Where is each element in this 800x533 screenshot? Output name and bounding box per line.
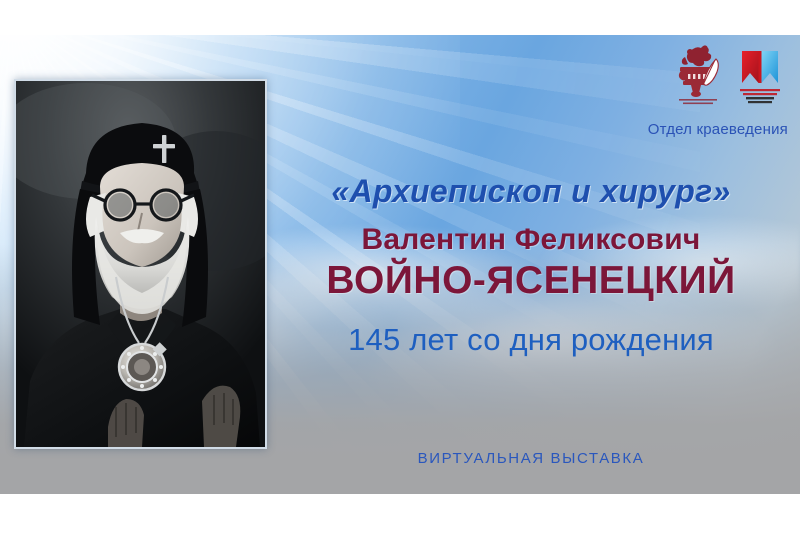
logo-group	[674, 43, 784, 107]
open-book-logo	[736, 43, 784, 107]
book-icon	[736, 43, 784, 107]
anniversary-text: 145 лет со дня рождения	[272, 322, 790, 358]
department-label: Отдел краеведения	[488, 121, 788, 138]
exhibition-type-label: ВИРТУАЛЬНАЯ ВЫСТАВКА	[272, 450, 790, 467]
panagia-medallion	[119, 342, 167, 390]
heraldic-crest-logo	[674, 43, 722, 107]
person-first-name: Валентин Феликсович	[272, 223, 790, 258]
person-last-name: ВОЙНО-ЯСЕНЕЦКИЙ	[272, 260, 790, 303]
portrait-illustration	[16, 81, 265, 447]
title-block: «Архиепископ и хирург» Валентин Феликсов…	[272, 173, 790, 358]
crest-icon	[674, 43, 722, 107]
poster-stage: Отдел краеведения «Архиепископ и хирург»…	[0, 0, 800, 533]
poster-headline: «Архиепископ и хирург»	[272, 173, 790, 211]
poster-canvas: Отдел краеведения «Архиепископ и хирург»…	[0, 35, 800, 494]
portrait-frame	[14, 79, 267, 449]
archbishop-portrait-image	[16, 81, 265, 447]
